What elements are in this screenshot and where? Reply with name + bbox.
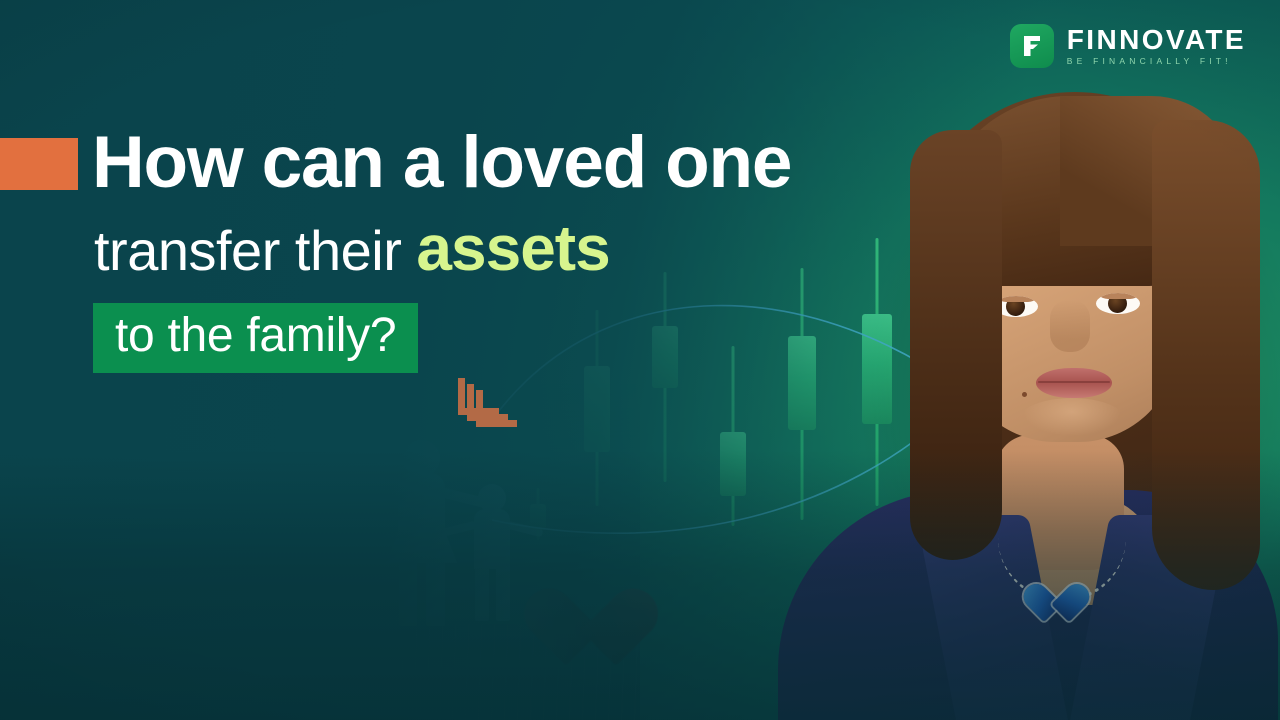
finnovate-f-logomark-icon xyxy=(1010,24,1054,68)
headline-line-2-plain: transfer their xyxy=(94,219,401,282)
headline-line-3: to the family? xyxy=(93,303,418,373)
video-thumbnail: How can a loved one transfer their asset… xyxy=(0,0,1280,720)
brand-name: FINNOVATE xyxy=(1067,26,1246,54)
headline-line-2-accent: assets xyxy=(416,212,609,284)
orange-accent-block xyxy=(0,138,78,190)
headline-line-1: How can a loved one xyxy=(92,126,791,199)
brand-tagline: BE FINANCIALLY FIT! xyxy=(1067,57,1246,66)
headline-line-2: transfer their assets xyxy=(94,216,610,280)
triple-chevron-icon xyxy=(458,368,514,420)
bottom-fade xyxy=(0,450,1280,720)
brand-logo[interactable]: FINNOVATE BE FINANCIALLY FIT! xyxy=(1010,24,1246,68)
